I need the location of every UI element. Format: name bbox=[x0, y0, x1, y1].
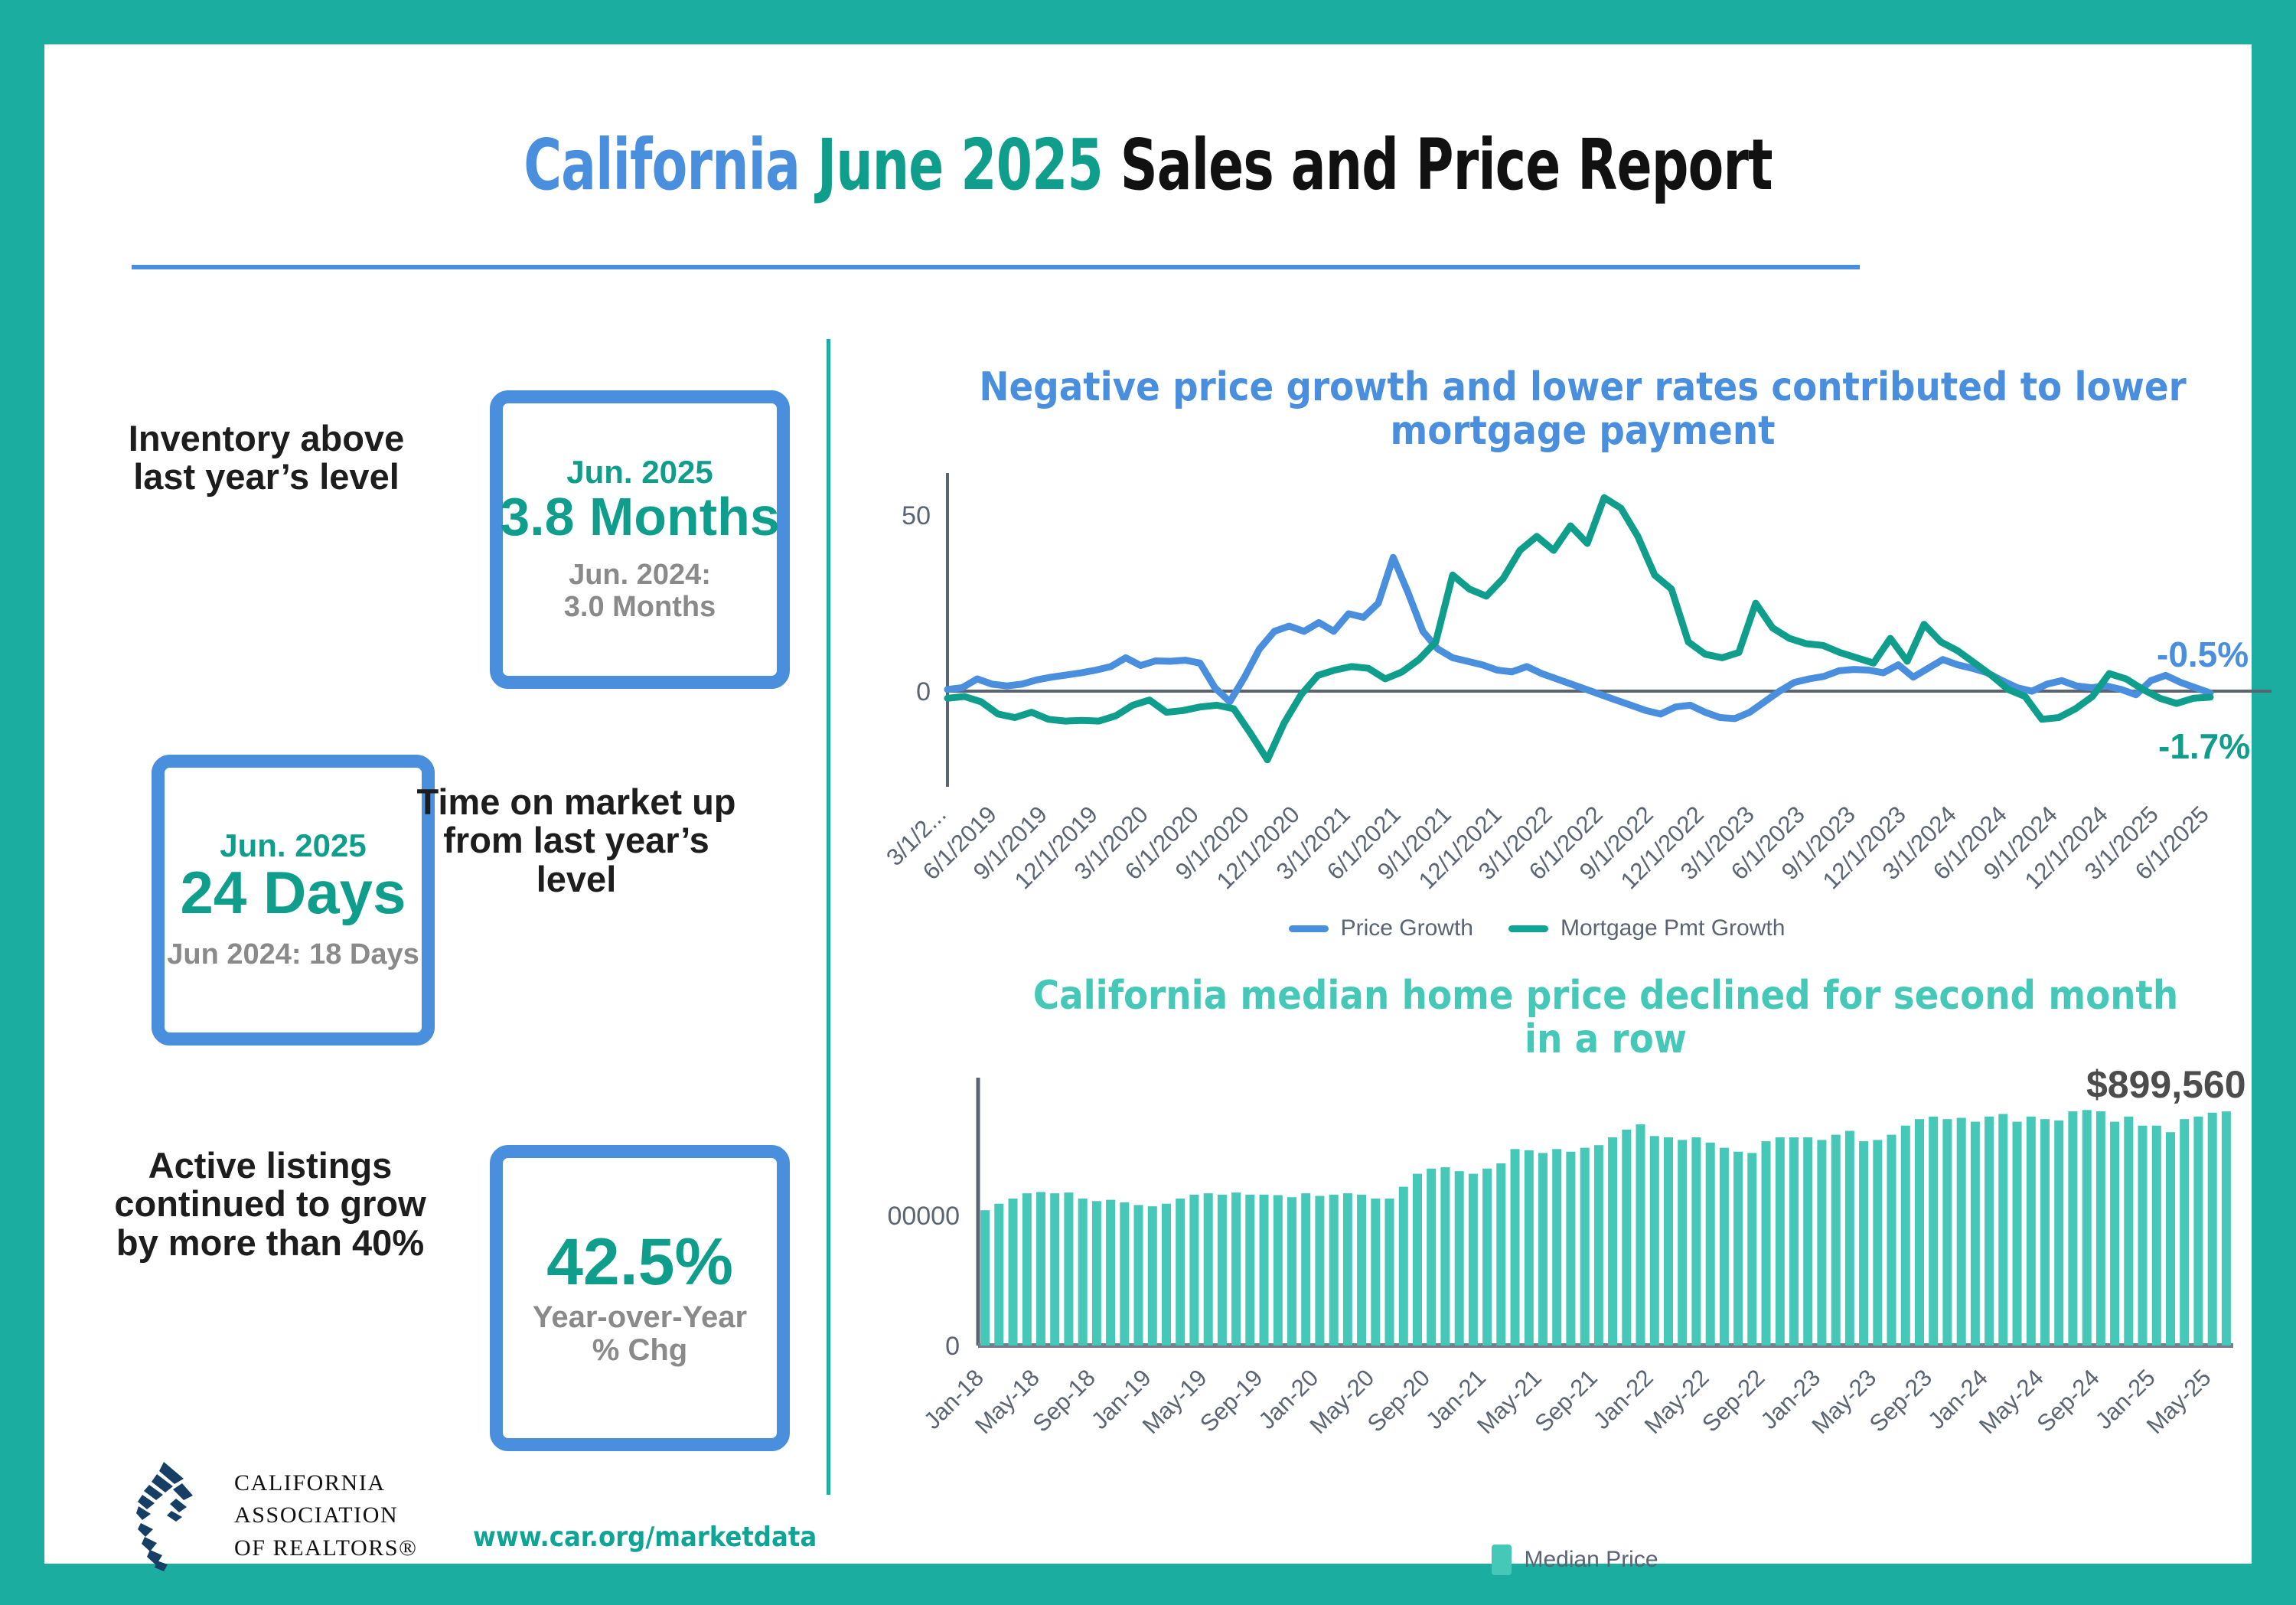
realtor-fan-icon bbox=[136, 1460, 219, 1571]
mortgage-pmt-end-label: -1.7% bbox=[2158, 726, 2250, 767]
legend-label: Price Growth bbox=[1341, 915, 1473, 941]
kpi-value: 3.8 Months bbox=[500, 490, 780, 544]
legend-item-price-growth: Price Growth bbox=[1289, 915, 1473, 941]
title-divider bbox=[132, 265, 1860, 269]
chart1-title: Negative price growth and lower rates co… bbox=[902, 366, 2264, 453]
svg-text:0: 0 bbox=[916, 677, 931, 706]
kpi-prior-year: Jun 2024: 18 Days bbox=[167, 939, 419, 971]
title-rest: Sales and Price Report bbox=[1120, 124, 1773, 206]
price-growth-line-chart: 0503/1/2...6/1/20199/1/201912/1/20193/1/… bbox=[840, 458, 2296, 948]
chart2-title: California median home price declined fo… bbox=[1009, 974, 2203, 1062]
svg-text:Sep-23: Sep-23 bbox=[1864, 1364, 1937, 1437]
white-card: California June 2025 Sales and Price Rep… bbox=[44, 44, 2252, 1564]
chart2-legend: Median Price bbox=[1039, 1545, 2111, 1575]
legend-label: Mortgage Pmt Growth bbox=[1561, 915, 1785, 941]
kpi-caption-time-on-market: Time on market up from last year’s level bbox=[412, 783, 741, 899]
kpi-box-inventory: Jun. 2025 3.8 Months Jun. 2024: 3.0 Mont… bbox=[490, 390, 790, 689]
infographic-page: California June 2025 Sales and Price Rep… bbox=[0, 0, 2296, 1605]
legend-label: Median Price bbox=[1524, 1547, 1658, 1573]
legend-swatch-teal-box bbox=[1492, 1545, 1512, 1575]
marketdata-url[interactable]: www.car.org/marketdata bbox=[473, 1522, 817, 1553]
svg-text:Sep-22: Sep-22 bbox=[1697, 1364, 1769, 1437]
kpi-box-days-on-market: Jun. 2025 24 Days Jun 2024: 18 Days bbox=[152, 755, 435, 1046]
svg-text:Sep-18: Sep-18 bbox=[1027, 1364, 1100, 1437]
car-logo: CALIFORNIA ASSOCIATION OF REALTORS® bbox=[136, 1460, 458, 1571]
legend-item-median-price: Median Price bbox=[1492, 1545, 1658, 1575]
column-divider bbox=[827, 339, 830, 1495]
svg-text:Sep-24: Sep-24 bbox=[2031, 1364, 2104, 1437]
kpi-sublabel: Year-over-Year % Chg bbox=[533, 1301, 747, 1367]
legend-item-mortgage-pmt-growth: Mortgage Pmt Growth bbox=[1508, 915, 1785, 941]
kpi-period: Jun. 2025 bbox=[220, 829, 366, 863]
kpi-caption-inventory: Inventory above last year’s level bbox=[106, 419, 427, 497]
kpi-value: 42.5% bbox=[546, 1229, 733, 1297]
logo-text: CALIFORNIA ASSOCIATION OF REALTORS® bbox=[234, 1467, 418, 1565]
median-price-bar-chart: 0500000Jan-18May-18Sep-18Jan-19May-19Sep… bbox=[886, 1070, 2296, 1499]
price-growth-end-label: -0.5% bbox=[2157, 634, 2249, 675]
legend-swatch-teal-line bbox=[1508, 925, 1548, 932]
page-title: California June 2025 Sales and Price Rep… bbox=[243, 124, 2053, 206]
logo-line-1: CALIFORNIA bbox=[234, 1467, 418, 1500]
svg-text:0: 0 bbox=[945, 1332, 960, 1361]
kpi-value: 24 Days bbox=[181, 863, 406, 924]
logo-line-3: OF REALTORS® bbox=[234, 1532, 418, 1565]
kpi-period: Jun. 2025 bbox=[566, 455, 713, 489]
svg-text:Sep-19: Sep-19 bbox=[1195, 1364, 1267, 1437]
kpi-prior-year: Jun. 2024: 3.0 Months bbox=[564, 559, 716, 624]
svg-text:Sep-21: Sep-21 bbox=[1529, 1364, 1602, 1437]
kpi-caption-active-listings: Active listings continued to grow by mor… bbox=[90, 1147, 450, 1262]
kpi-box-yoy-change: 42.5% Year-over-Year % Chg bbox=[490, 1145, 790, 1451]
chart1-legend: Price Growth Mortgage Pmt Growth bbox=[886, 915, 2187, 941]
title-state: California bbox=[523, 124, 800, 206]
svg-text:Sep-20: Sep-20 bbox=[1362, 1364, 1435, 1437]
legend-swatch-blue-line bbox=[1289, 925, 1329, 932]
svg-text:500000: 500000 bbox=[886, 1202, 960, 1231]
svg-text:50: 50 bbox=[902, 501, 931, 530]
title-month: June 2025 bbox=[817, 124, 1103, 206]
logo-line-2: ASSOCIATION bbox=[234, 1499, 418, 1532]
